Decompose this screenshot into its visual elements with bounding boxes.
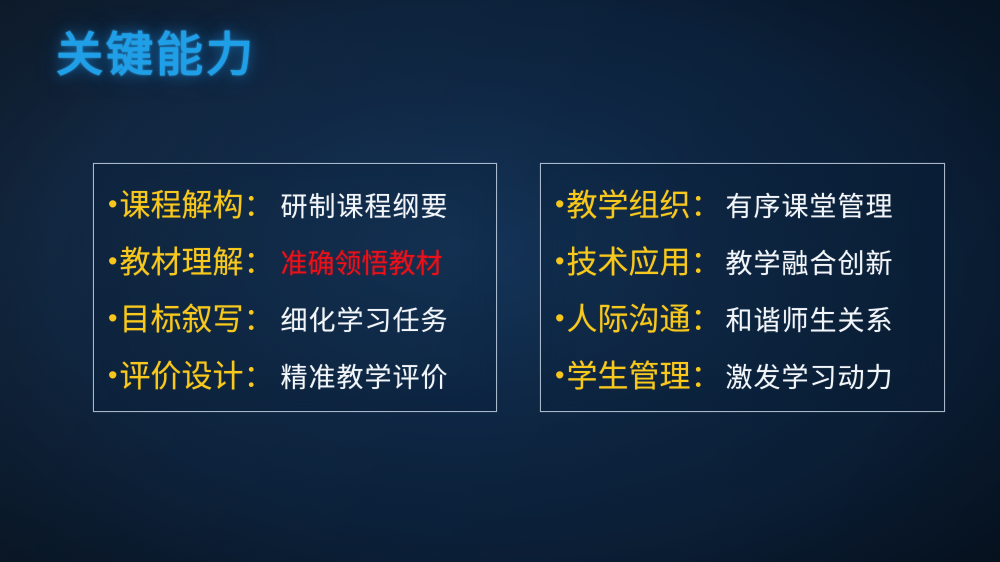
capability-panel-left: • 课程解构 ： 研制课程纲要 • 教材理解 ： 准确领悟教材 • 目标叙写 ：…: [93, 163, 497, 412]
list-item[interactable]: • 教学组织 ： 有序课堂管理: [555, 180, 944, 237]
capability-description: 有序课堂管理: [725, 185, 893, 224]
list-item[interactable]: • 评价设计 ： 精准教学评价: [108, 351, 496, 408]
capability-description: 细化学习任务: [280, 299, 448, 338]
list-item[interactable]: • 学生管理 ： 激发学习动力: [555, 351, 944, 408]
list-item[interactable]: • 教材理解 ： 准确领悟教材: [108, 237, 496, 294]
capability-label: 技术应用: [566, 237, 690, 282]
capability-label: 学生管理: [566, 351, 690, 396]
list-item[interactable]: • 人际沟通 ： 和谐师生关系: [555, 294, 944, 351]
capability-colon: ：: [243, 294, 272, 339]
capability-colon: ：: [243, 351, 272, 396]
capability-colon: ：: [690, 294, 719, 339]
page-title: 关键能力: [56, 28, 256, 82]
capability-description: 激发学习动力: [725, 356, 893, 395]
capability-colon: ：: [690, 351, 719, 396]
capability-label: 教学组织: [566, 180, 690, 225]
list-item[interactable]: • 目标叙写 ： 细化学习任务: [108, 294, 496, 351]
list-item[interactable]: • 技术应用 ： 教学融合创新: [555, 237, 944, 294]
bullet-dot-icon: •: [555, 191, 564, 218]
capability-description: 和谐师生关系: [725, 299, 893, 338]
capability-colon: ：: [690, 237, 719, 282]
slide-canvas: 关键能力 • 课程解构 ： 研制课程纲要 • 教材理解 ： 准确领悟教材 • 目…: [0, 0, 1000, 562]
capability-label: 目标叙写: [119, 294, 243, 339]
bullet-dot-icon: •: [555, 305, 564, 332]
bullet-dot-icon: •: [108, 191, 117, 218]
bullet-dot-icon: •: [108, 362, 117, 389]
capability-label: 人际沟通: [566, 294, 690, 339]
capability-description: 精准教学评价: [280, 356, 448, 395]
list-item[interactable]: • 课程解构 ： 研制课程纲要: [108, 180, 496, 237]
capability-description: 教学融合创新: [725, 242, 893, 281]
capability-label: 教材理解: [119, 237, 243, 282]
capability-columns: • 课程解构 ： 研制课程纲要 • 教材理解 ： 准确领悟教材 • 目标叙写 ：…: [0, 163, 1000, 413]
bullet-dot-icon: •: [108, 305, 117, 332]
capability-label: 评价设计: [119, 351, 243, 396]
capability-description: 研制课程纲要: [280, 185, 448, 224]
capability-label: 课程解构: [119, 180, 243, 225]
capability-colon: ：: [690, 180, 719, 225]
bullet-dot-icon: •: [555, 362, 564, 389]
capability-panel-right: • 教学组织 ： 有序课堂管理 • 技术应用 ： 教学融合创新 • 人际沟通 ：…: [540, 163, 945, 412]
bullet-dot-icon: •: [108, 248, 117, 275]
capability-colon: ：: [243, 180, 272, 225]
capability-colon: ：: [243, 237, 272, 282]
capability-description: 准确领悟教材: [280, 242, 442, 281]
bullet-dot-icon: •: [555, 248, 564, 275]
